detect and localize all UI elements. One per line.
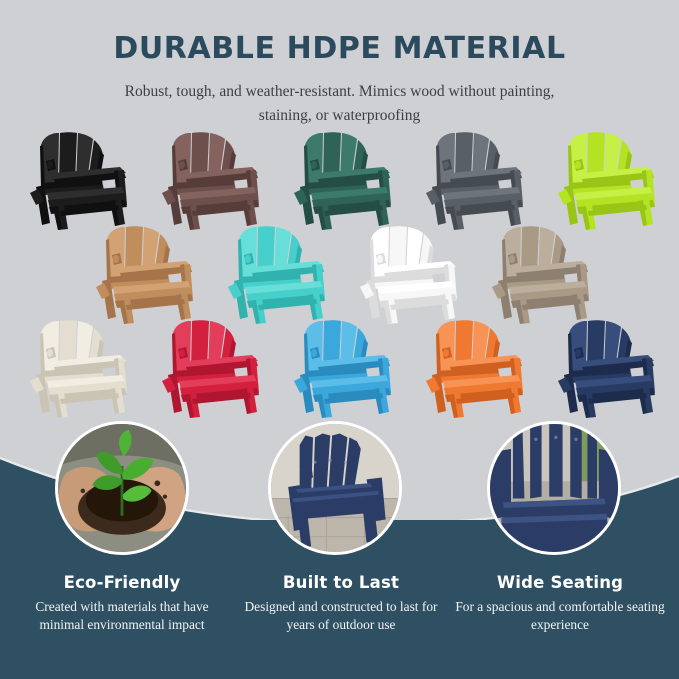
chair-color-grid bbox=[0, 131, 679, 419]
adirondack-chair-icon bbox=[278, 319, 402, 419]
chair-swatch-orange[interactable] bbox=[410, 319, 534, 419]
feature-text-wide-seating: Wide Seating For a spacious and comforta… bbox=[440, 573, 679, 634]
chair-row-3 bbox=[0, 319, 679, 419]
chair-swatch-lime-green[interactable] bbox=[542, 131, 666, 231]
feature-description: Designed and constructed to last for yea… bbox=[221, 598, 461, 634]
feature-image-wide-seating bbox=[487, 421, 621, 555]
adirondack-chair-icon bbox=[542, 131, 666, 231]
chair-row-1 bbox=[0, 131, 679, 231]
adirondack-chair-icon bbox=[542, 319, 666, 419]
chair-swatch-red[interactable] bbox=[146, 319, 270, 419]
adirondack-chair-icon bbox=[344, 225, 468, 325]
adirondack-chair-icon bbox=[410, 131, 534, 231]
chair-swatch-gray[interactable] bbox=[410, 131, 534, 231]
feature-text-built-to-last: Built to Last Designed and constructed t… bbox=[221, 573, 461, 634]
chair-swatch-light-blue[interactable] bbox=[278, 319, 402, 419]
adirondack-chair-icon bbox=[410, 319, 534, 419]
chair-swatch-turquoise[interactable] bbox=[212, 225, 336, 325]
chair-swatch-ivory[interactable] bbox=[14, 319, 138, 419]
feature-description: Created with materials that have minimal… bbox=[2, 598, 242, 634]
chair-swatch-brown[interactable] bbox=[146, 131, 270, 231]
adirondack-chair-icon bbox=[146, 131, 270, 231]
feature-heading: Wide Seating bbox=[440, 573, 679, 592]
chair-swatch-weathered-wood[interactable] bbox=[476, 225, 600, 325]
chair-swatch-dark-green[interactable] bbox=[278, 131, 402, 231]
chair-swatch-navy[interactable] bbox=[542, 319, 666, 419]
adirondack-chair-icon bbox=[80, 225, 204, 325]
chair-swatch-white[interactable] bbox=[344, 225, 468, 325]
adirondack-chair-icon bbox=[14, 319, 138, 419]
feature-heading: Eco-Friendly bbox=[2, 573, 242, 592]
adirondack-chair-icon bbox=[476, 225, 600, 325]
adirondack-chair-icon bbox=[212, 225, 336, 325]
page-title: DURABLE HDPE MATERIAL bbox=[0, 33, 679, 65]
adirondack-chair-icon bbox=[278, 131, 402, 231]
chair-row-2 bbox=[0, 225, 679, 325]
feature-image-eco-friendly bbox=[55, 421, 189, 555]
feature-heading: Built to Last bbox=[221, 573, 461, 592]
chair-swatch-black[interactable] bbox=[14, 131, 138, 231]
adirondack-chair-icon bbox=[14, 131, 138, 231]
feature-description: For a spacious and comfortable seating e… bbox=[440, 598, 679, 634]
adirondack-chair-icon bbox=[146, 319, 270, 419]
chair-swatch-teak[interactable] bbox=[80, 225, 204, 325]
feature-image-built-to-last bbox=[268, 421, 402, 555]
page-subtitle: Robust, tough, and weather-resistant. Mi… bbox=[0, 80, 679, 128]
infographic-canvas: DURABLE HDPE MATERIAL Robust, tough, and… bbox=[0, 0, 679, 679]
feature-text-eco-friendly: Eco-Friendly Created with materials that… bbox=[2, 573, 242, 634]
